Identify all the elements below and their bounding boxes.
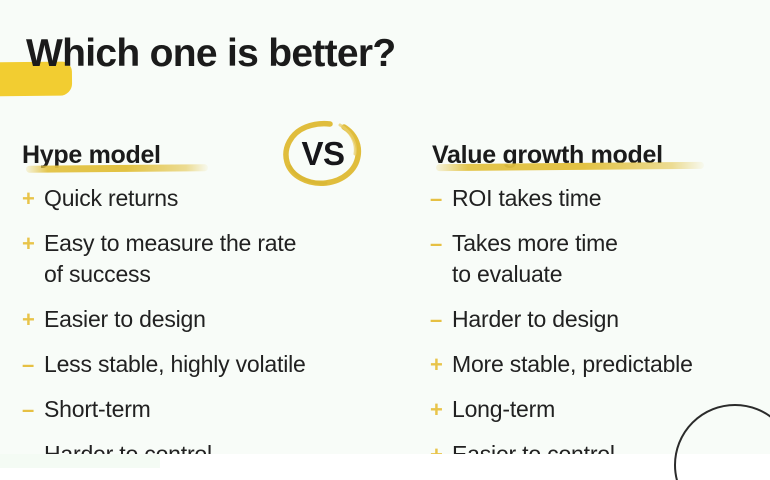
marker-plus-icon: + [22, 183, 44, 214]
list-item-label: Harder to design [452, 304, 770, 335]
list-item-label: More stable, predictable [452, 349, 770, 380]
marker-plus-icon: + [430, 394, 452, 425]
list-item-label: Easy to measure the rate of success [44, 228, 414, 290]
marker-plus-icon: + [22, 228, 44, 259]
list-item: – Harder to design [430, 304, 770, 335]
list-item: + More stable, predictable [430, 349, 770, 380]
heading-underline-left [26, 164, 208, 173]
list-item-label: ROI takes time [452, 183, 770, 214]
comparison-slide: Which one is better? Hype model Value gr… [0, 0, 770, 480]
list-item: – Takes more time to evaluate [430, 228, 770, 290]
list-item-label: Less stable, highly volatile [44, 349, 414, 380]
list-item-label: Short-term [44, 394, 414, 425]
vs-label: VS [278, 118, 368, 190]
list-item: – ROI takes time [430, 183, 770, 214]
marker-minus-icon: – [430, 183, 452, 214]
marker-plus-icon: + [22, 304, 44, 335]
page-title: Which one is better? [26, 26, 396, 82]
list-item: + Easy to measure the rate of success [22, 228, 414, 290]
marker-minus-icon: – [22, 349, 44, 380]
list-item-label: Easier to design [44, 304, 414, 335]
title-area: Which one is better? [0, 26, 770, 106]
vs-badge: VS [278, 118, 368, 190]
list-item: – Less stable, highly volatile [22, 349, 414, 380]
heading-underline-right [436, 162, 704, 171]
list-item-label: Quick returns [44, 183, 414, 214]
list-item-label: Takes more time to evaluate [452, 228, 770, 290]
bottom-left-tint [0, 454, 160, 468]
marker-minus-icon: – [430, 304, 452, 335]
list-item: – Short-term [22, 394, 414, 425]
hype-model-list: + Quick returns + Easy to measure the ra… [22, 183, 414, 480]
list-item: + Easier to design [22, 304, 414, 335]
marker-minus-icon: – [22, 394, 44, 425]
marker-minus-icon: – [430, 228, 452, 259]
list-item: + Quick returns [22, 183, 414, 214]
marker-plus-icon: + [430, 349, 452, 380]
